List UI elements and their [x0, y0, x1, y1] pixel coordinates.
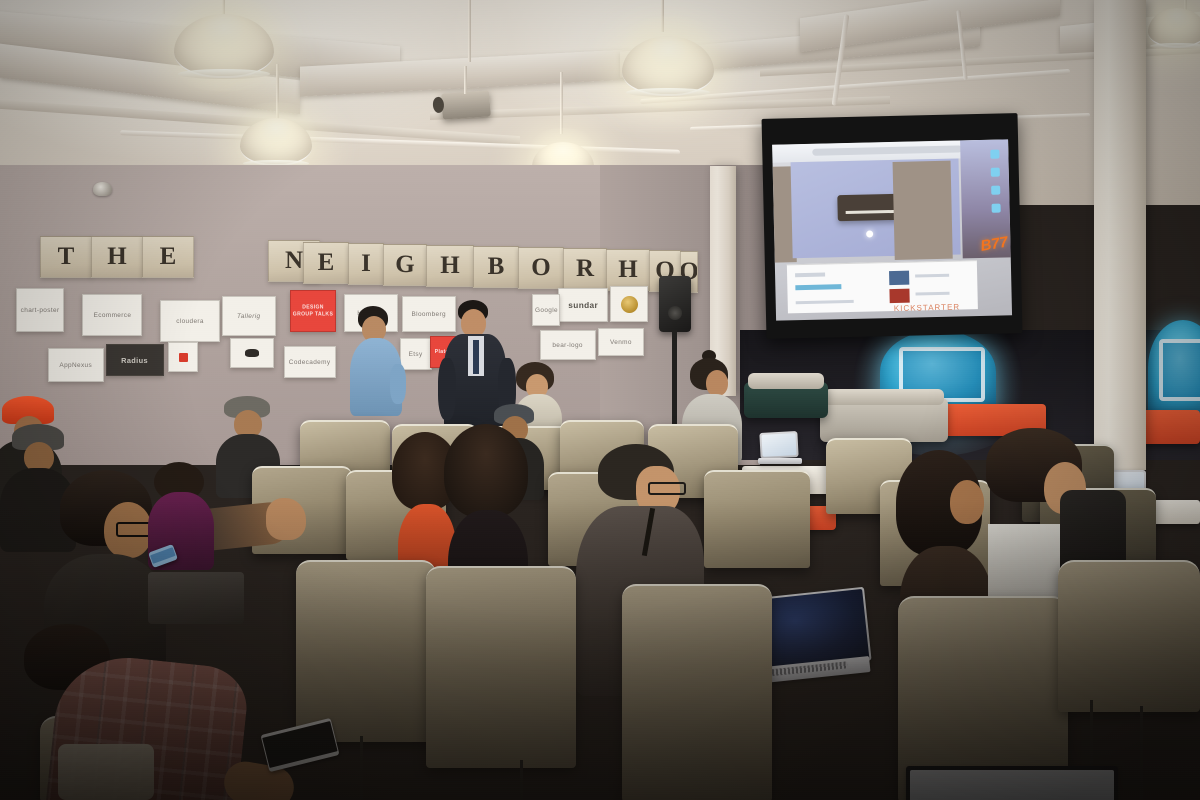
sponsor-poster-6: Bloomberg — [402, 296, 456, 332]
structural-column — [1094, 0, 1146, 470]
sponsor-poster-venmo — [168, 342, 198, 372]
sponsor-poster-11: AppNexus — [48, 348, 104, 382]
laptop-screen — [910, 770, 1114, 800]
chair-front-1 — [296, 560, 436, 742]
sponsor-poster-9: Google — [532, 294, 560, 326]
arm-left — [438, 358, 456, 420]
poster-label: Google — [534, 307, 557, 313]
poster-label: cloudera — [176, 318, 204, 324]
sponsor-poster-17: bear-logo — [540, 330, 596, 360]
sponsor-poster-gold-seal — [610, 286, 648, 322]
laptop-lid — [759, 431, 798, 459]
sponsor-poster-1: Ecommerce — [82, 294, 142, 336]
slide-field-3 — [796, 300, 854, 304]
head — [950, 480, 984, 524]
pendant-light-2 — [240, 118, 312, 164]
letter-tile-R: R — [563, 248, 607, 290]
poster-label: chart-poster — [21, 307, 60, 313]
pendant-light-5 — [1148, 8, 1200, 46]
slide-field-1 — [795, 273, 825, 278]
letter-tile-E2: E — [303, 242, 349, 284]
head — [706, 370, 728, 396]
poster-label: bear-logo — [553, 342, 584, 348]
slide-thumbnail-1 — [889, 271, 909, 285]
sponsor-poster-15: Etsy — [400, 338, 432, 370]
chair-row2-4 — [704, 470, 810, 568]
poster-label: Ecommerce — [93, 312, 131, 318]
letter-tile-O: O — [518, 247, 564, 289]
slide-flame-label: B77 — [980, 234, 1010, 255]
photo-scene: T H E N E I G H B O R H O O chart-poster… — [0, 0, 1200, 800]
hanger-rod-4 — [661, 0, 664, 32]
sponsor-poster-2: cloudera — [160, 300, 220, 342]
laptop-base — [758, 458, 802, 464]
slide-thumbnail-2 — [889, 289, 909, 303]
sponsor-poster-18: Venmo — [598, 328, 644, 356]
sponsor-poster-14: Codecademy — [284, 346, 336, 378]
poster-label: Radius — [122, 356, 149, 364]
letter-tile-G: G — [383, 244, 427, 286]
letter-tile-H2: H — [426, 245, 474, 287]
phone-screen — [262, 721, 337, 768]
poster-label: DESIGN GROUP TALKS — [293, 303, 333, 318]
hanger-rod-3 — [560, 72, 563, 134]
hand — [266, 498, 306, 540]
slide-sidebar: B77 — [960, 139, 1011, 258]
briefcase — [148, 572, 244, 624]
projection-screen: B77 KICKSTARTER — [762, 113, 1023, 339]
projection-screen-surface: B77 KICKSTARTER — [772, 139, 1012, 320]
chair-leg-2 — [520, 760, 523, 800]
phone-foreground-white — [260, 718, 339, 772]
chair-leg-4 — [1140, 706, 1143, 800]
slide-caption-1 — [915, 274, 949, 278]
arm — [390, 364, 406, 404]
poster-label: Tallerig — [237, 313, 260, 319]
chair-front-2 — [426, 566, 576, 768]
ceiling-projector — [441, 90, 491, 119]
letter-tile-I: I — [348, 243, 384, 285]
sponsor-poster-design-group-talks: DESIGN GROUP TALKS — [290, 290, 336, 332]
letter-tile-H: H — [91, 236, 143, 278]
laptop-lid — [906, 766, 1118, 800]
pendant-light-1 — [174, 14, 274, 76]
poster-label: Codecademy — [289, 359, 331, 365]
projector-mount — [464, 66, 467, 94]
sponsor-poster-sundar: sundar — [558, 288, 608, 322]
necktie — [473, 340, 479, 374]
chair-front-3 — [622, 584, 772, 800]
tote-bag — [58, 744, 154, 800]
poster-label: Etsy — [409, 351, 423, 357]
eyeglasses-icon — [648, 482, 686, 495]
venmo-mark-icon — [179, 353, 188, 362]
gold-seal-icon — [621, 296, 638, 313]
letter-tile-H3: H — [606, 249, 650, 291]
letter-tile-B: B — [473, 246, 519, 288]
sponsor-poster-0: chart-poster — [16, 288, 64, 332]
poster-label: Venmo — [610, 339, 632, 345]
slide-caption-2 — [916, 292, 950, 296]
dome-security-camera — [93, 182, 112, 196]
sponsor-poster-3: Tallerig — [222, 296, 276, 336]
bear-logo-icon — [245, 349, 259, 357]
grey-sofa — [820, 398, 948, 442]
hanger-rod-6 — [468, 0, 471, 62]
chair-front-5 — [1058, 560, 1200, 712]
slide-watermark: KICKSTARTER — [894, 302, 960, 313]
slide-card-right — [893, 161, 953, 260]
grey-sofa-2 — [744, 382, 828, 418]
curly-hair — [444, 424, 528, 518]
letter-tile-T: T — [40, 236, 92, 278]
pa-speaker — [659, 276, 691, 332]
chair-leg-1 — [360, 736, 363, 800]
head — [461, 309, 486, 337]
poster-label: Bloomberg — [412, 311, 446, 317]
letter-tile-E: E — [142, 236, 194, 278]
laptop-screen — [761, 433, 796, 457]
hanger-rod-2 — [276, 64, 279, 122]
pendant-light-4 — [622, 36, 714, 94]
poster-label: AppNexus — [60, 362, 93, 368]
slide-field-2 — [795, 284, 841, 290]
sponsor-poster-radius: Radius — [106, 344, 164, 376]
poster-label: sundar — [568, 300, 598, 309]
sponsor-poster-bear — [230, 338, 274, 368]
